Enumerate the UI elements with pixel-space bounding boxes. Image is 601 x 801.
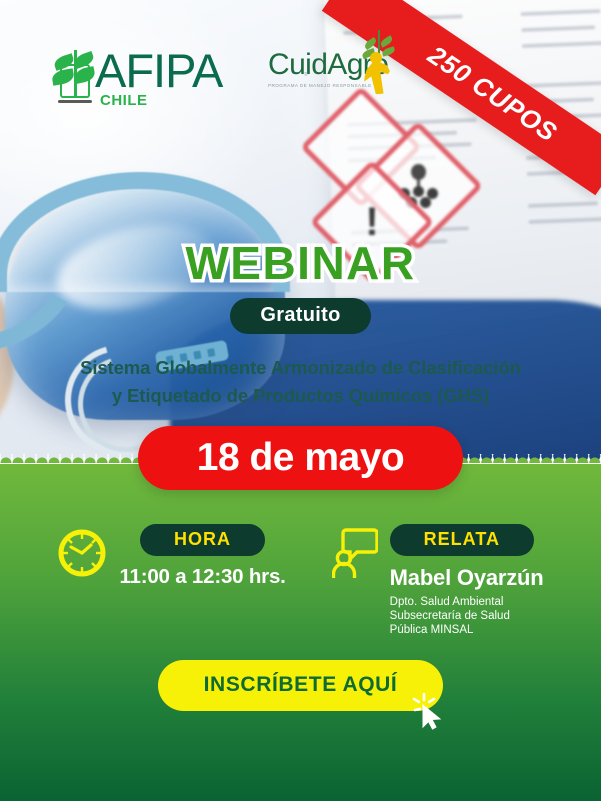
webinar-title-line-2: y Etiquetado de Productos Químicos (GHS) — [14, 382, 587, 410]
time-text-group: HORA 11:00 a 12:30 hrs. — [119, 524, 285, 589]
webinar-heading: WEBINAR — [185, 236, 415, 290]
speaker-organization: Dpto. Salud Ambiental Subsecretaría de S… — [390, 595, 544, 637]
afipa-wordmark: AFIPA — [95, 51, 222, 91]
time-block: HORA 11:00 a 12:30 hrs. — [57, 524, 285, 637]
webinar-title: Sistema Globalmente Armonizado de Clasif… — [0, 354, 601, 410]
clock-icon — [57, 528, 107, 578]
cta-area: INSCRÍBETE AQUÍ — [0, 660, 601, 711]
free-badge: Gratuito — [230, 298, 370, 334]
plant-in-pot-icon — [52, 48, 98, 106]
cuidagro-logo: CuidAgro PROGRAMA DE MANEJO RESPONSABLE … — [268, 50, 388, 88]
speaker-text-group: RELATA Mabel Oyarzún Dpto. Salud Ambient… — [390, 524, 544, 637]
date-badge-label: 18 de mayo — [197, 436, 404, 480]
time-pill-label: HORA — [140, 524, 265, 556]
afipa-logo: AFIPA CHILE — [52, 48, 222, 106]
time-value: 11:00 a 12:30 hrs. — [119, 565, 285, 589]
speaker-pill-label: RELATA — [390, 524, 534, 556]
date-badge: 18 de mayo — [138, 426, 463, 490]
info-row: HORA 11:00 a 12:30 hrs. RELATA Mabel Oya… — [0, 524, 601, 637]
registered-mark: ® — [304, 72, 308, 78]
person-speech-bubble-icon — [332, 526, 378, 578]
speaker-org-line-1: Dpto. Salud Ambiental — [390, 595, 544, 609]
speaker-org-line-3: Pública MINSAL — [390, 623, 544, 637]
speaker-org-line-2: Subsecretaría de Salud — [390, 609, 544, 623]
webinar-title-line-1: Sistema Globalmente Armonizado de Clasif… — [14, 354, 587, 382]
register-button[interactable]: INSCRÍBETE AQUÍ — [158, 660, 444, 711]
click-cursor-icon — [410, 690, 450, 732]
afipa-subtitle: CHILE — [100, 92, 148, 109]
webinar-headline-block: WEBINAR Gratuito — [0, 236, 601, 334]
speaker-block: RELATA Mabel Oyarzún Dpto. Salud Ambient… — [332, 524, 544, 637]
logo-bar: AFIPA CHILE CuidAgro PROGRAMA DE MANEJO … — [0, 42, 601, 120]
speaker-name: Mabel Oyarzún — [390, 565, 544, 591]
person-with-sprout-icon — [358, 38, 402, 100]
webinar-promo-flyer: ! 250 CUPOS — [0, 0, 601, 801]
